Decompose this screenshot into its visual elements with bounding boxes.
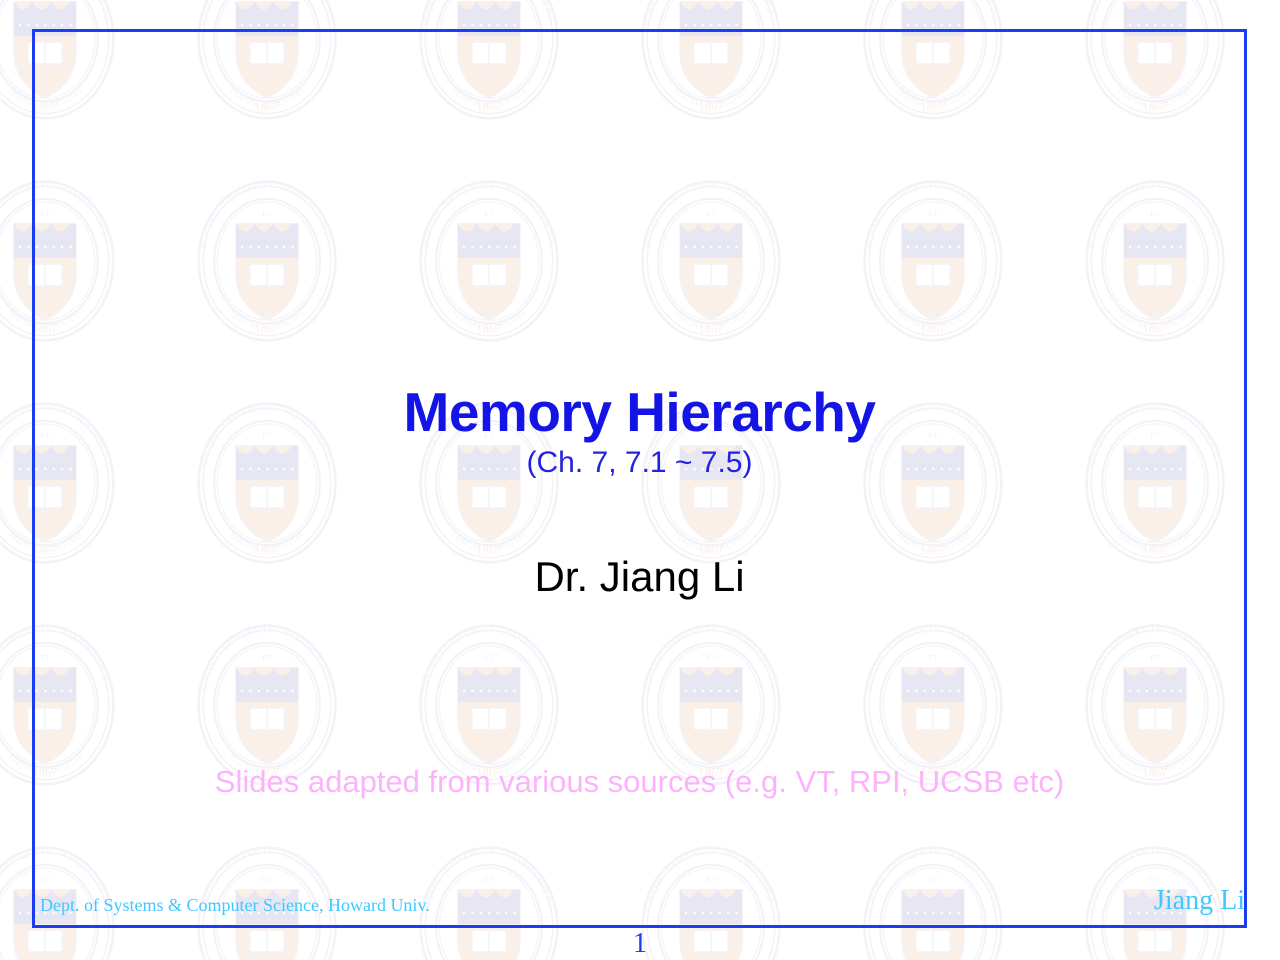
author-name: Dr. Jiang Li [32,553,1247,601]
svg-text:HOWARD · UNIVERSITY · WASHINGT: HOWARD · UNIVERSITY · WASHINGTON D.C. [643,0,780,27]
page-number: 1 [0,928,1280,960]
svg-text:HOWARD · UNIVERSITY · WASHINGT: HOWARD · UNIVERSITY · WASHINGTON D.C. [0,0,113,27]
footer-department: Dept. of Systems & Computer Science, How… [40,895,430,916]
svg-text:HOWARD · UNIVERSITY · WASHINGT: HOWARD · UNIVERSITY · WASHINGTON D.C. [1087,0,1224,27]
title-block: Memory Hierarchy (Ch. 7, 7.1 ~ 7.5) [32,384,1247,480]
page-title: Memory Hierarchy [32,384,1247,442]
slide-content: Memory Hierarchy (Ch. 7, 7.1 ~ 7.5) Dr. … [32,29,1247,928]
footer-author: Jiang Li [1154,885,1245,917]
svg-text:HOWARD · UNIVERSITY · WASHINGT: HOWARD · UNIVERSITY · WASHINGTON D.C. [421,0,558,27]
svg-text:HOWARD · UNIVERSITY · WASHINGT: HOWARD · UNIVERSITY · WASHINGTON D.C. [865,0,1002,27]
svg-text:HOWARD · UNIVERSITY · WASHINGT: HOWARD · UNIVERSITY · WASHINGTON D.C. [199,0,336,27]
page-subtitle: (Ch. 7, 7.1 ~ 7.5) [32,446,1247,481]
credit-attribution: Slides adapted from various sources (e.g… [32,764,1247,800]
presentation-slide: HOWARD · UNIVERSITY · WASHINGTON D.C.VER… [0,0,1280,960]
